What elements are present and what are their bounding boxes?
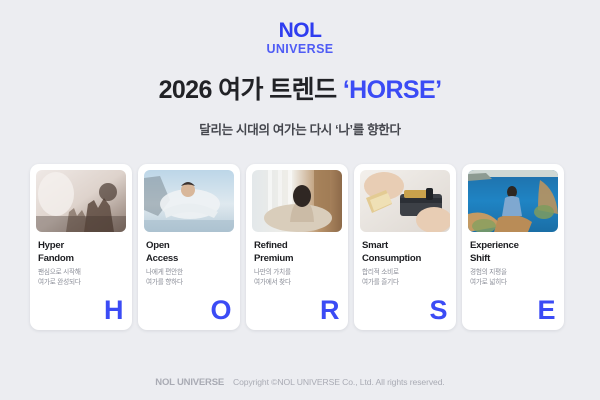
card-title: Experience Shift [470,240,558,265]
brand-logo: NOL UNIVERSE [0,20,600,56]
card-description: 경험의 지평을 여가로 넓히다 [470,268,558,288]
footer-copyright: Copyright ©NOL UNIVERSE Co., Ltd. All ri… [233,377,445,387]
card-title: Open Access [146,240,234,265]
card-letter: R [320,297,339,324]
card-title-line1: Open [146,240,170,251]
card-title-line2: Premium [254,253,293,264]
concert-crowd-hands-photo [36,170,126,232]
card-desc-line2: 여가를 향하다 [146,279,183,286]
card-title-line1: Refined [254,240,287,251]
card-desc-line2: 여가로 넓히다 [470,279,507,286]
card-title-line1: Experience [470,240,519,251]
man-sitting-cliff-blue-sea-photo [468,170,558,232]
card-title-line1: Hyper [38,240,64,251]
card-desc-line1: 나에게 편안한 [146,269,183,276]
card-desc-line2: 여가로 완성되다 [38,279,81,286]
card-desc-line1: 나만의 가치를 [254,269,291,276]
page-title-lead: 2026 여가 트렌드 [159,76,343,104]
person-relaxing-hammock-sea-photo [144,170,234,232]
card-letter: S [429,297,447,324]
card-desc-line1: 합리적 소비로 [362,269,399,276]
card-letter: O [210,297,231,324]
card-title-line2: Consumption [362,253,421,264]
card-description: 팬심으로 시작해 여가로 완성되다 [38,268,126,288]
hand-wallet-cash-card-photo [360,170,450,232]
card-letter: H [104,297,123,324]
card-desc-line2: 여가에서 찾다 [254,279,291,286]
page-title-accent: ‘HORSE’ [343,76,442,104]
trend-card[interactable]: Experience Shift 경험의 지평을 여가로 넓히다 E [462,164,564,330]
card-title: Refined Premium [254,240,342,265]
trend-card[interactable]: Refined Premium 나만의 가치를 여가에서 찾다 R [246,164,348,330]
card-description: 나에게 편안한 여가를 향하다 [146,268,234,288]
trend-card[interactable]: Smart Consumption 합리적 소비로 여가를 즐기다 S [354,164,456,330]
page-subtitle: 달리는 시대의 여가는 다시 ‘나’를 향한다 [0,119,600,138]
brand-logo-sub: UNIVERSE [0,43,600,56]
card-title: Hyper Fandom [38,240,126,265]
footer-logo: NOL UNIVERSE [155,377,224,388]
footer-bar: NOL UNIVERSE Copyright ©NOL UNIVERSE Co.… [0,364,600,400]
card-description: 나만의 가치를 여가에서 찾다 [254,268,342,288]
brand-logo-main: NOL [0,20,600,41]
card-title-line1: Smart [362,240,388,251]
card-title-line2: Shift [470,253,490,264]
card-desc-line1: 팬심으로 시작해 [38,269,81,276]
card-desc-line1: 경험의 지평을 [470,269,507,276]
card-description: 합리적 소비로 여가를 즐기다 [362,268,450,288]
trend-card-strip: Hyper Fandom 팬심으로 시작해 여가로 완성되다 H [30,164,570,330]
woman-hotel-room-window-photo [252,170,342,232]
card-title-line2: Fandom [38,253,74,264]
card-desc-line2: 여가를 즐기다 [362,279,399,286]
card-title-line2: Access [146,253,178,264]
trend-card[interactable]: Hyper Fandom 팬심으로 시작해 여가로 완성되다 H [30,164,132,330]
trend-card[interactable]: Open Access 나에게 편안한 여가를 향하다 O [138,164,240,330]
card-title: Smart Consumption [362,240,450,265]
card-letter: E [537,297,555,324]
page-title: 2026 여가 트렌드 ‘HORSE’ [0,76,600,105]
